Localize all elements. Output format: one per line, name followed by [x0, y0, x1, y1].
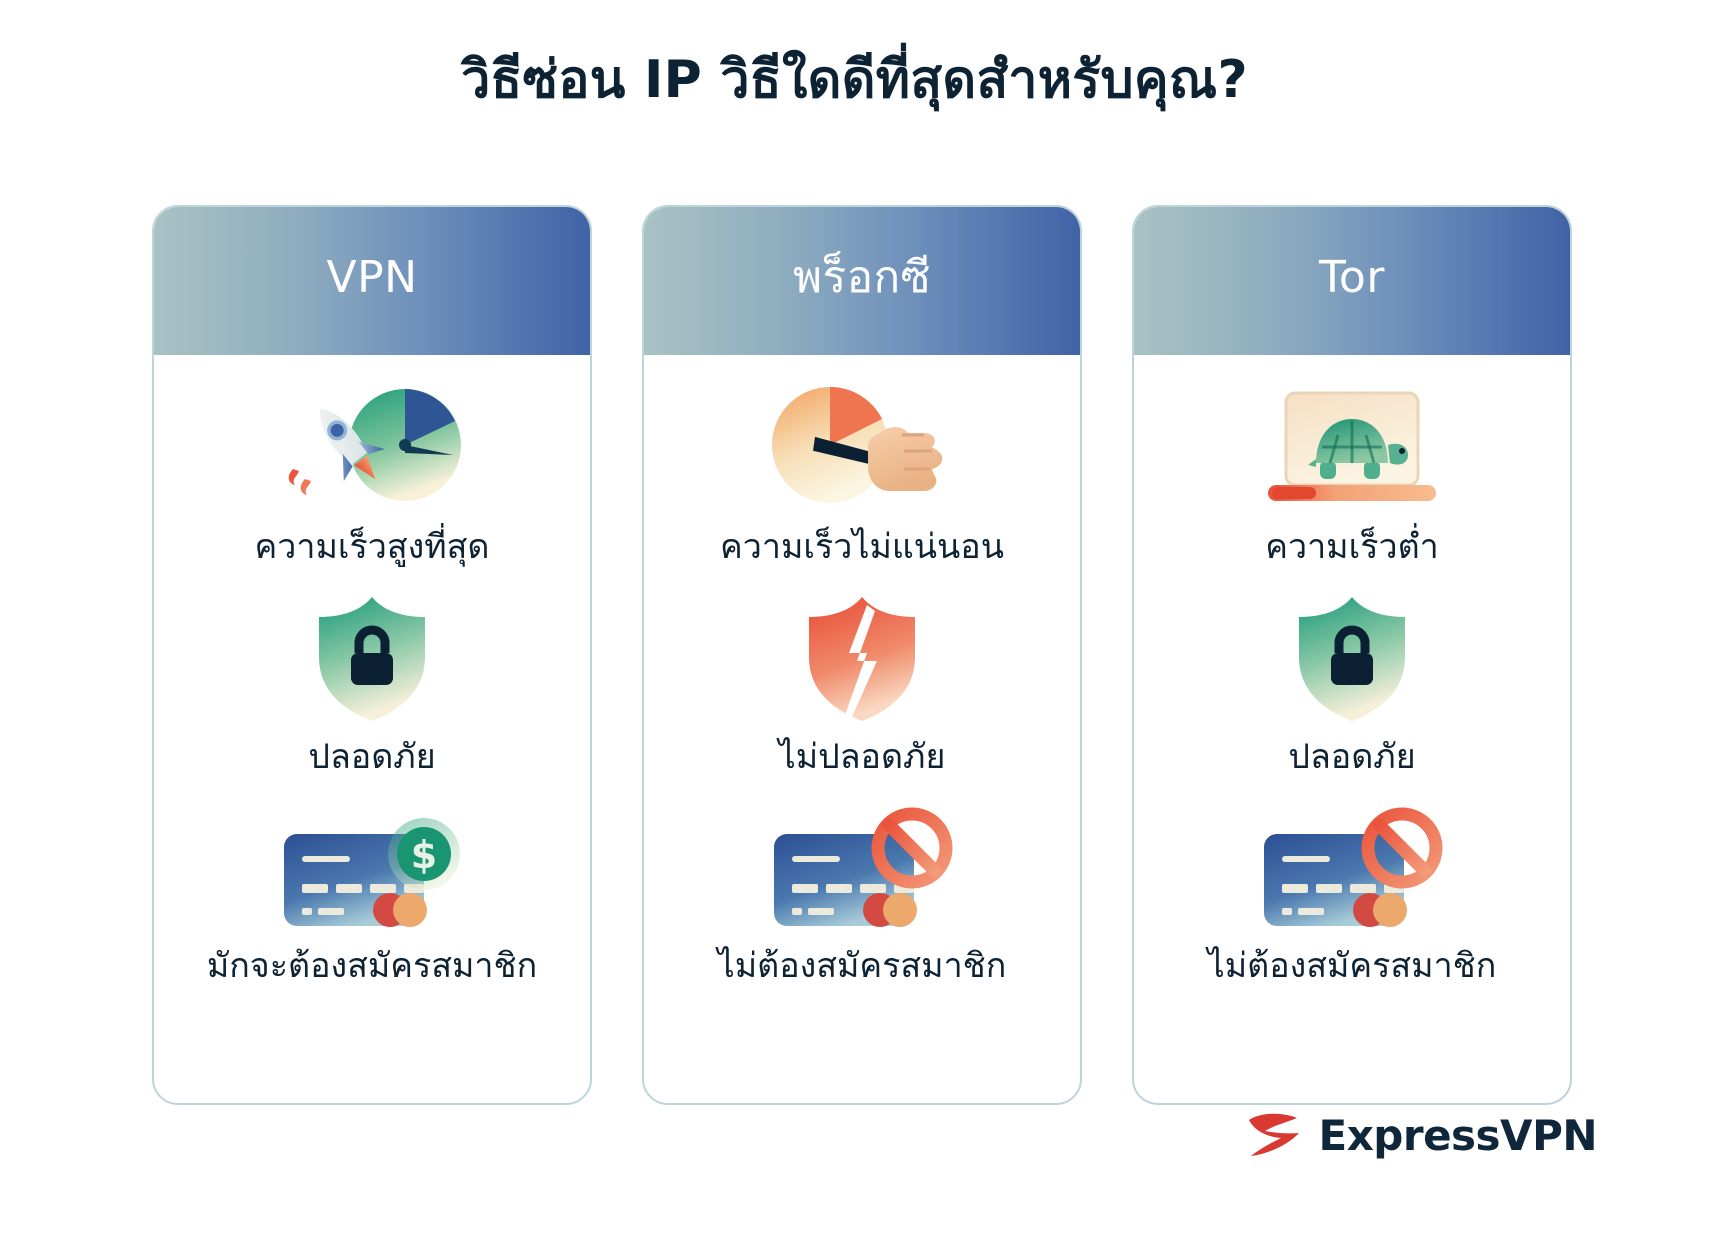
feature-label: ไม่ปลอดภัย [779, 736, 946, 779]
expressvpn-mark-icon [1243, 1110, 1305, 1162]
feature-subscription: ไม่ต้องสมัครสมาชิก [1134, 800, 1570, 988]
shield-lock-icon [307, 591, 437, 726]
feature-subscription: ไม่ต้องสมัครสมาชิก [644, 800, 1080, 988]
card-header-tor: Tor [1134, 207, 1570, 355]
shield-lock-icon [1287, 591, 1417, 726]
laptop-turtle-icon [1252, 381, 1452, 516]
card-body-tor: ความเร็วต่ำ [1134, 355, 1570, 1103]
feature-speed: ความเร็วไม่แน่นอน [644, 381, 1080, 569]
credit-card-blocked-icon [762, 800, 962, 935]
comparison-cards: VPN [152, 205, 1572, 1105]
card-header-proxy: พร็อกซี [644, 207, 1080, 355]
credit-card-dollar-icon: $ [272, 800, 472, 935]
feature-label: ความเร็วสูงที่สุด [255, 526, 490, 569]
expressvpn-logo[interactable]: ExpressVPN [1243, 1110, 1597, 1162]
svg-text:$: $ [411, 833, 437, 877]
card-tor[interactable]: Tor [1132, 205, 1572, 1105]
feature-speed: ความเร็วสูงที่สุด [154, 381, 590, 569]
expressvpn-wordmark: ExpressVPN [1319, 1115, 1597, 1157]
rocket-speedometer-icon [257, 381, 487, 516]
feature-label: ความเร็วต่ำ [1265, 526, 1439, 569]
feature-label: ปลอดภัย [308, 736, 435, 779]
card-body-proxy: ความเร็วไม่แน่นอน [644, 355, 1080, 1103]
card-vpn[interactable]: VPN [152, 205, 592, 1105]
card-body-vpn: ความเร็วสูงที่สุด [154, 355, 590, 1103]
feature-speed: ความเร็วต่ำ [1134, 381, 1570, 569]
card-title: พร็อกซี [793, 254, 931, 308]
feature-security: ไม่ปลอดภัย [644, 591, 1080, 779]
feature-security: ปลอดภัย [154, 591, 590, 779]
infographic-page: วิธีซ่อน IP วิธีใดดีที่สุดสำหรับคุณ? VPN [0, 0, 1709, 1240]
page-title: วิธีซ่อน IP วิธีใดดีที่สุดสำหรับคุณ? [0, 48, 1709, 113]
speed-dial-hand-icon [752, 381, 972, 516]
credit-card-blocked-icon [1252, 800, 1452, 935]
broken-shield-icon [797, 591, 927, 726]
card-title: Tor [1319, 254, 1385, 308]
card-header-vpn: VPN [154, 207, 590, 355]
card-title: VPN [326, 254, 417, 308]
feature-label: ความเร็วไม่แน่นอน [720, 526, 1004, 569]
feature-label: มักจะต้องสมัครสมาชิก [207, 945, 537, 988]
feature-label: ไม่ต้องสมัครสมาชิก [718, 945, 1007, 988]
feature-label: ไม่ต้องสมัครสมาชิก [1208, 945, 1497, 988]
card-proxy[interactable]: พร็อกซี [642, 205, 1082, 1105]
feature-subscription: $ มักจะต้องสมัครสมาชิก [154, 800, 590, 988]
feature-label: ปลอดภัย [1288, 736, 1415, 779]
feature-security: ปลอดภัย [1134, 591, 1570, 779]
